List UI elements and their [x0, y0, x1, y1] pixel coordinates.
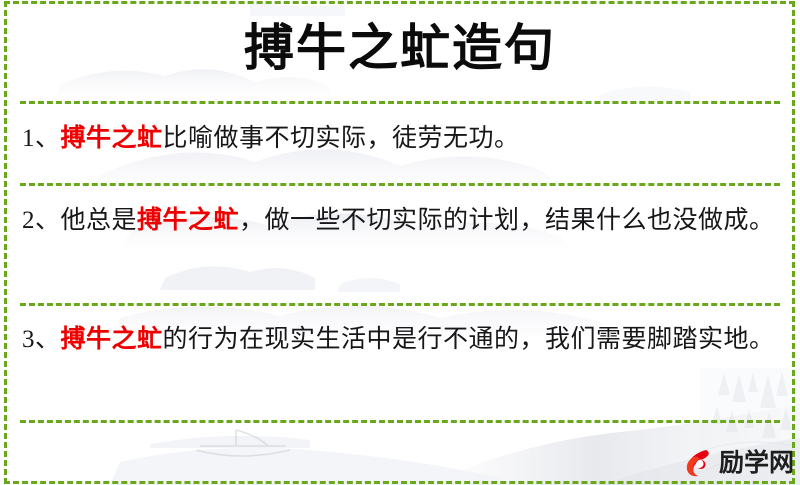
list-item: 3、搏牛之虻的行为在现实生活中是行不通的，我们需要脚踏实地。 — [22, 317, 778, 363]
red-swirl-flame-icon — [683, 447, 715, 479]
keyword-idiom: 搏牛之虻 — [137, 207, 239, 234]
sentence-index: 3、 — [22, 326, 61, 353]
sentence-lead: 他总是 — [61, 207, 138, 234]
site-logo[interactable]: 励学网 — [683, 447, 794, 479]
sentence-body: 的行为在现实生活中是行不通的，我们需要脚踏实地。 — [163, 326, 775, 353]
sentence-body: ，做一些不切实际的计划，结果什么也没做成。 — [239, 207, 775, 234]
list-item: 1、搏牛之虻比喻做事不切实际，徒劳无功。 — [22, 116, 778, 162]
slide-canvas: 搏牛之虻造句 1、搏牛之虻比喻做事不切实际，徒劳无功。 2、他总是搏牛之虻，做一… — [0, 0, 800, 485]
keyword-idiom: 搏牛之虻 — [61, 326, 163, 353]
keyword-idiom: 搏牛之虻 — [61, 125, 163, 152]
site-logo-text: 励学网 — [719, 448, 794, 478]
sentence-index: 2、 — [22, 207, 61, 234]
sentence-list: 1、搏牛之虻比喻做事不切实际，徒劳无功。 2、他总是搏牛之虻，做一些不切实际的计… — [0, 0, 800, 485]
sentence-body: 比喻做事不切实际，徒劳无功。 — [163, 125, 520, 152]
list-item: 2、他总是搏牛之虻，做一些不切实际的计划，结果什么也没做成。 — [22, 198, 778, 244]
sentence-index: 1、 — [22, 125, 61, 152]
